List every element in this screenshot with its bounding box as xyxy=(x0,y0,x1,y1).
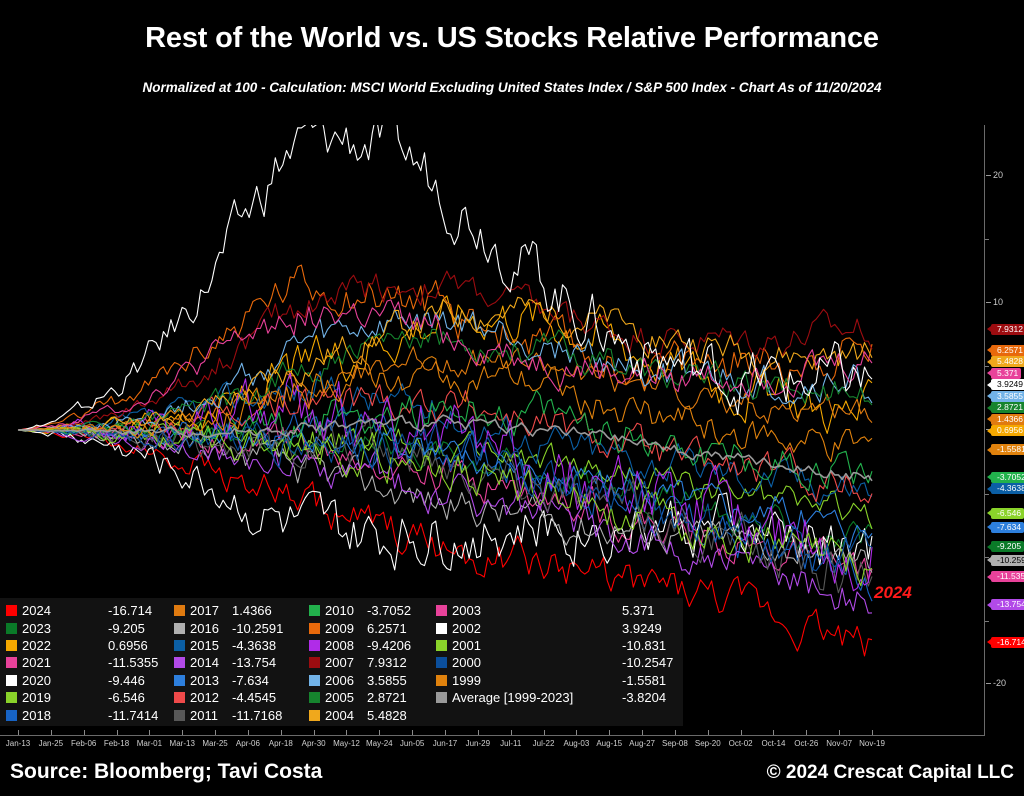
x-tick-mark xyxy=(314,730,315,735)
x-tick-label-Jan-13: Jan-13 xyxy=(6,739,30,748)
legend-series-value: 5.371 xyxy=(622,603,655,618)
x-tick-label-Jul-22: Jul-22 xyxy=(533,739,555,748)
footer-source: Source: Bloomberg; Tavi Costa xyxy=(10,760,322,784)
y-minor-tick xyxy=(985,239,989,240)
series-line-2006 xyxy=(18,309,872,430)
chart-legend: 2024-16.7142023-9.20520220.69562021-11.5… xyxy=(0,598,683,726)
series-line-2001 xyxy=(18,423,872,586)
legend-series-name: 2014 xyxy=(190,655,232,670)
y-value-label-neg1_5581: -1.5581 xyxy=(991,444,1024,455)
x-tick-mark xyxy=(445,730,446,735)
legend-series-name: Average [1999-2023] xyxy=(452,690,622,705)
y-tick-20: 20 xyxy=(986,170,1003,180)
legend-series-name: 2015 xyxy=(190,638,232,653)
legend-series-name: 2012 xyxy=(190,690,232,705)
y-value-label-text: 2.8721 xyxy=(997,402,1023,412)
x-tick-mark xyxy=(51,730,52,735)
legend-item-2010[interactable]: 2010-3.7052 xyxy=(309,602,411,619)
legend-series-value: -13.754 xyxy=(232,655,276,670)
legend-swatch-icon xyxy=(174,710,185,721)
legend-series-value: -9.4206 xyxy=(367,638,411,653)
legend-series-value: -4.4545 xyxy=(232,690,276,705)
y-value-label-neg9_205: -9.205 xyxy=(991,541,1024,552)
legend-series-value: -10.831 xyxy=(622,638,666,653)
x-tick-mark xyxy=(741,730,742,735)
y-value-label-2_8721: 2.8721 xyxy=(991,402,1024,413)
legend-series-value: -3.8204 xyxy=(622,690,666,705)
legend-item-2024[interactable]: 2024-16.714 xyxy=(6,602,158,619)
legend-item-2020[interactable]: 2020-9.446 xyxy=(6,672,158,689)
y-value-label-5_371: 5.371 xyxy=(991,368,1021,379)
x-tick-mark xyxy=(511,730,512,735)
chart-subtitle: Normalized at 100 - Calculation: MSCI Wo… xyxy=(0,80,1024,95)
legend-series-value: 1.4366 xyxy=(232,603,272,618)
y-minor-tick xyxy=(985,621,989,622)
x-tick-label-Jan-25: Jan-25 xyxy=(39,739,63,748)
legend-item-2021[interactable]: 2021-11.5355 xyxy=(6,654,158,671)
x-tick-label-Sep-20: Sep-20 xyxy=(695,739,721,748)
legend-series-name: 2004 xyxy=(325,708,367,723)
legend-swatch-icon xyxy=(174,692,185,703)
y-value-label-text: 1.4366 xyxy=(997,414,1023,424)
x-tick-mark xyxy=(215,730,216,735)
x-tick-label-Oct-14: Oct-14 xyxy=(761,739,785,748)
x-tick-mark xyxy=(839,730,840,735)
x-tick-mark xyxy=(281,730,282,735)
legend-swatch-icon xyxy=(174,623,185,634)
x-tick-mark xyxy=(379,730,380,735)
legend-series-name: 2022 xyxy=(22,638,108,653)
legend-item-2012[interactable]: 2012-4.4545 xyxy=(174,689,283,706)
y-value-label-text: -11.5355 xyxy=(997,571,1024,581)
x-tick-mark xyxy=(149,730,150,735)
x-tick-mark xyxy=(182,730,183,735)
y-tick-neg20: -20 xyxy=(986,678,1006,688)
y-value-label-text: -10.2591 xyxy=(997,555,1024,565)
x-tick-mark xyxy=(675,730,676,735)
legend-series-value: -9.446 xyxy=(108,673,145,688)
legend-series-name: 2003 xyxy=(452,603,622,618)
x-tick-mark xyxy=(773,730,774,735)
y-value-label-text: 5.4828 xyxy=(997,356,1023,366)
x-tick-label-Apr-30: Apr-30 xyxy=(302,739,326,748)
y-value-label-neg4_3638: -4.3638 xyxy=(991,483,1024,494)
x-tick-label-Mar-13: Mar-13 xyxy=(170,739,195,748)
y-tick-label: 10 xyxy=(993,297,1003,307)
legend-item-2001[interactable]: 2001-10.831 xyxy=(436,637,673,654)
legend-item-2013[interactable]: 2013-7.634 xyxy=(174,672,283,689)
x-tick-mark xyxy=(346,730,347,735)
legend-series-name: 2001 xyxy=(452,638,622,653)
x-tick-label-Feb-18: Feb-18 xyxy=(104,739,129,748)
legend-item-2018[interactable]: 2018-11.7414 xyxy=(6,706,158,723)
legend-swatch-icon xyxy=(309,623,320,634)
x-tick-mark xyxy=(642,730,643,735)
legend-series-name: 2010 xyxy=(325,603,367,618)
x-tick-mark xyxy=(544,730,545,735)
legend-series-name: 2008 xyxy=(325,638,367,653)
legend-series-name: 2017 xyxy=(190,603,232,618)
y-value-label-text: 0.6956 xyxy=(997,425,1023,435)
y-value-label-5_4828: 5.4828 xyxy=(991,356,1024,367)
x-tick-label-Feb-06: Feb-06 xyxy=(71,739,96,748)
y-value-label-neg10_2591: -10.2591 xyxy=(991,555,1024,566)
legend-item-2009[interactable]: 20096.2571 xyxy=(309,619,411,636)
x-tick-label-Mar-01: Mar-01 xyxy=(137,739,162,748)
y-value-label-text: -9.205 xyxy=(997,541,1021,551)
x-tick-label-Jun-05: Jun-05 xyxy=(400,739,424,748)
legend-column-2: 2010-3.705220096.25712008-9.420620077.93… xyxy=(309,602,411,724)
legend-series-value: 2.8721 xyxy=(367,690,407,705)
y-value-label-7_9312: 7.9312 xyxy=(991,324,1024,335)
legend-swatch-icon xyxy=(174,675,185,686)
tick-dash-icon xyxy=(986,175,991,176)
legend-swatch-icon xyxy=(309,605,320,616)
legend-series-value: 5.4828 xyxy=(367,708,407,723)
legend-swatch-icon xyxy=(309,710,320,721)
y-value-label-3_5855: 3.5855 xyxy=(991,391,1024,402)
legend-series-value: -9.205 xyxy=(108,621,145,636)
y-value-label-text: 3.5855 xyxy=(997,391,1023,401)
legend-series-value: 7.9312 xyxy=(367,655,407,670)
legend-series-name: 1999 xyxy=(452,673,622,688)
legend-swatch-icon xyxy=(6,623,17,634)
x-tick-mark xyxy=(609,730,610,735)
legend-item-2003[interactable]: 20035.371 xyxy=(436,602,673,619)
x-axis-line xyxy=(0,735,985,736)
x-tick-label-Oct-02: Oct-02 xyxy=(729,739,753,748)
series-line-2002 xyxy=(18,125,872,430)
legend-series-value: -11.5355 xyxy=(108,655,158,670)
legend-item-2019[interactable]: 2019-6.546 xyxy=(6,689,158,706)
legend-item-2017[interactable]: 20171.4366 xyxy=(174,602,283,619)
x-tick-mark xyxy=(117,730,118,735)
legend-swatch-icon xyxy=(436,675,447,686)
chart-root: Rest of the World vs. US Stocks Relative… xyxy=(0,0,1024,796)
legend-swatch-icon xyxy=(174,657,185,668)
x-tick-label-Apr-18: Apr-18 xyxy=(269,739,293,748)
y-value-label-text: -16.714 xyxy=(997,637,1024,647)
page-title: Rest of the World vs. US Stocks Relative… xyxy=(0,22,1024,55)
legend-series-value: -16.714 xyxy=(108,603,152,618)
y-value-label-neg16_714: -16.714 xyxy=(991,637,1024,648)
y-axis-line xyxy=(984,125,985,735)
legend-series-name: 2006 xyxy=(325,673,367,688)
x-tick-label-Nov-07: Nov-07 xyxy=(826,739,852,748)
legend-series-value: 3.5855 xyxy=(367,673,407,688)
y-tick-10: 10 xyxy=(986,297,1003,307)
legend-swatch-icon xyxy=(6,605,17,616)
legend-series-name: 2024 xyxy=(22,603,108,618)
legend-item-2016[interactable]: 2016-10.2591 xyxy=(174,619,283,636)
legend-item-2005[interactable]: 20052.8721 xyxy=(309,689,411,706)
legend-swatch-icon xyxy=(309,675,320,686)
legend-swatch-icon xyxy=(174,605,185,616)
legend-series-value: -11.7414 xyxy=(108,708,158,723)
legend-swatch-icon xyxy=(436,605,447,616)
legend-series-value: -3.7052 xyxy=(367,603,411,618)
legend-series-name: 2018 xyxy=(22,708,108,723)
tick-dash-icon xyxy=(986,683,991,684)
legend-series-value: 6.2571 xyxy=(367,621,407,636)
y-value-label-text: -7.634 xyxy=(997,522,1021,532)
y-tick-label: -20 xyxy=(993,678,1006,688)
legend-swatch-icon xyxy=(6,692,17,703)
legend-series-value: -11.7168 xyxy=(232,708,282,723)
y-value-label-1_4366: 1.4366 xyxy=(991,414,1024,425)
legend-item-2006[interactable]: 20063.5855 xyxy=(309,672,411,689)
legend-series-value: 3.9249 xyxy=(622,621,662,636)
legend-swatch-icon xyxy=(436,657,447,668)
x-tick-mark xyxy=(248,730,249,735)
legend-item-2004[interactable]: 20045.4828 xyxy=(309,706,411,723)
legend-item-2002[interactable]: 20023.9249 xyxy=(436,619,673,636)
x-tick-label-Jul-11: Jul-11 xyxy=(500,739,521,748)
annotation-2024: 2024 xyxy=(874,583,912,603)
legend-series-value: -6.546 xyxy=(108,690,145,705)
x-tick-label-Oct-26: Oct-26 xyxy=(794,739,818,748)
legend-series-name: 2000 xyxy=(452,655,622,670)
legend-swatch-icon xyxy=(6,640,17,651)
y-value-label-text: 6.2571 xyxy=(997,345,1023,355)
y-value-label-6_2571: 6.2571 xyxy=(991,345,1024,356)
x-tick-label-Mar-25: Mar-25 xyxy=(202,739,227,748)
legend-swatch-icon xyxy=(309,657,320,668)
x-tick-mark xyxy=(84,730,85,735)
y-value-label-3_9249: 3.9249 xyxy=(991,379,1024,390)
x-tick-label-May-24: May-24 xyxy=(366,739,393,748)
y-value-label-text: 7.9312 xyxy=(997,324,1023,334)
x-tick-label-Nov-19: Nov-19 xyxy=(859,739,885,748)
x-tick-label-Sep-08: Sep-08 xyxy=(662,739,688,748)
legend-series-name: 2020 xyxy=(22,673,108,688)
x-tick-label-Aug-03: Aug-03 xyxy=(563,739,589,748)
legend-series-name: 2009 xyxy=(325,621,367,636)
legend-swatch-icon xyxy=(436,692,447,703)
legend-series-value: -4.3638 xyxy=(232,638,276,653)
legend-swatch-icon xyxy=(309,692,320,703)
legend-swatch-icon xyxy=(6,675,17,686)
legend-swatch-icon xyxy=(436,623,447,634)
legend-item-2007[interactable]: 20077.9312 xyxy=(309,654,411,671)
y-value-label-text: -6.546 xyxy=(997,508,1021,518)
y-value-label-text: -13.754 xyxy=(997,599,1024,609)
legend-column-0: 2024-16.7142023-9.20520220.69562021-11.5… xyxy=(6,602,158,724)
x-tick-label-Aug-15: Aug-15 xyxy=(596,739,622,748)
legend-item-1999[interactable]: 1999-1.5581 xyxy=(436,672,673,689)
y-value-label-text: 3.9249 xyxy=(997,379,1023,389)
x-tick-label-Aug-27: Aug-27 xyxy=(629,739,655,748)
y-value-label-neg11_5355: -11.5355 xyxy=(991,571,1024,582)
x-tick-mark xyxy=(478,730,479,735)
x-tick-mark xyxy=(576,730,577,735)
legend-series-name: 2019 xyxy=(22,690,108,705)
legend-series-name: 2013 xyxy=(190,673,232,688)
legend-series-name: 2016 xyxy=(190,621,232,636)
x-tick-label-Jun-29: Jun-29 xyxy=(466,739,490,748)
legend-series-name: 2005 xyxy=(325,690,367,705)
legend-swatch-icon xyxy=(6,710,17,721)
y-value-label-text: 5.371 xyxy=(997,368,1018,378)
legend-item-2011[interactable]: 2011-11.7168 xyxy=(174,706,283,723)
y-value-label-neg6_546: -6.546 xyxy=(991,508,1024,519)
legend-swatch-icon xyxy=(309,640,320,651)
legend-series-name: 2002 xyxy=(452,621,622,636)
legend-swatch-icon xyxy=(6,657,17,668)
x-tick-label-Jun-17: Jun-17 xyxy=(433,739,457,748)
legend-column-3: 20035.37120023.92492001-10.8312000-10.25… xyxy=(436,602,673,706)
y-value-label-text: -3.7052 xyxy=(997,472,1024,482)
legend-series-name: 2011 xyxy=(190,708,232,723)
y-tick-label: 20 xyxy=(993,170,1003,180)
y-value-label-neg13_754: -13.754 xyxy=(991,599,1024,610)
legend-item-2023[interactable]: 2023-9.205 xyxy=(6,619,158,636)
x-tick-mark xyxy=(412,730,413,735)
legend-item-Average[interactable]: Average [1999-2023]-3.8204 xyxy=(436,689,673,706)
legend-series-name: 2007 xyxy=(325,655,367,670)
legend-item-2015[interactable]: 2015-4.3638 xyxy=(174,637,283,654)
legend-item-2022[interactable]: 20220.6956 xyxy=(6,637,158,654)
legend-series-value: -10.2591 xyxy=(232,621,283,636)
legend-series-value: -10.2547 xyxy=(622,655,673,670)
footer-copyright: © 2024 Crescat Capital LLC xyxy=(767,762,1014,784)
legend-series-value: -1.5581 xyxy=(622,673,666,688)
legend-series-value: 0.6956 xyxy=(108,638,148,653)
y-minor-tick xyxy=(985,366,989,367)
legend-series-value: -7.634 xyxy=(232,673,269,688)
x-tick-mark xyxy=(806,730,807,735)
y-minor-tick xyxy=(985,494,989,495)
y-value-label-text: -1.5581 xyxy=(997,444,1024,454)
y-value-label-neg7_634: -7.634 xyxy=(991,522,1024,533)
y-value-label-text: -4.3638 xyxy=(997,483,1024,493)
tick-dash-icon xyxy=(986,302,991,303)
x-tick-mark xyxy=(708,730,709,735)
y-value-label-neg3_7052: -3.7052 xyxy=(991,472,1024,483)
series-line-2022 xyxy=(18,296,872,434)
legend-column-1: 20171.43662016-10.25912015-4.36382014-13… xyxy=(174,602,283,724)
x-tick-label-May-12: May-12 xyxy=(333,739,360,748)
legend-item-2014[interactable]: 2014-13.754 xyxy=(174,654,283,671)
legend-series-name: 2023 xyxy=(22,621,108,636)
legend-item-2008[interactable]: 2008-9.4206 xyxy=(309,637,411,654)
x-tick-label-Apr-06: Apr-06 xyxy=(236,739,260,748)
y-value-label-0_6956: 0.6956 xyxy=(991,425,1024,436)
x-tick-mark xyxy=(18,730,19,735)
legend-series-name: 2021 xyxy=(22,655,108,670)
legend-swatch-icon xyxy=(174,640,185,651)
x-tick-mark xyxy=(872,730,873,735)
legend-item-2000[interactable]: 2000-10.2547 xyxy=(436,654,673,671)
legend-swatch-icon xyxy=(436,640,447,651)
